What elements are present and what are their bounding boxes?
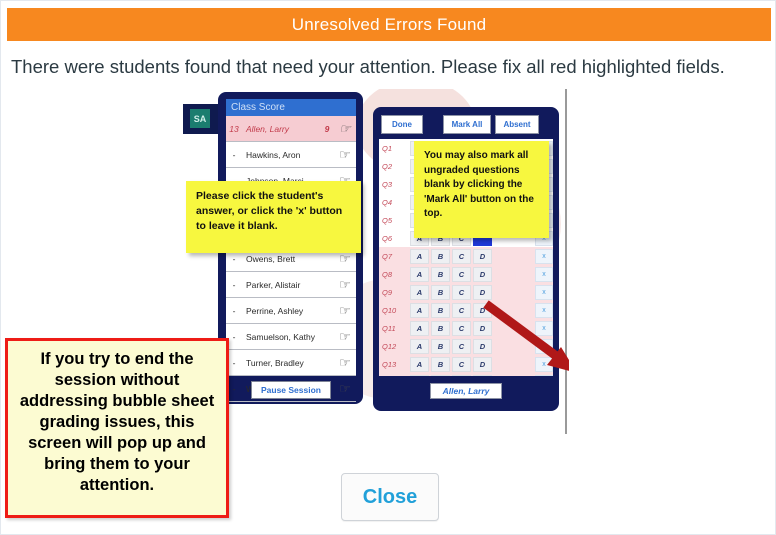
dialog-message: There were students found that need your… <box>11 56 771 78</box>
question-label: Q1 <box>379 144 406 153</box>
red-arrow-left <box>481 299 569 379</box>
answer-options: ABCD <box>406 267 527 282</box>
answer-option-c[interactable]: C <box>452 303 471 318</box>
answer-option-c[interactable]: C <box>452 375 471 377</box>
student-row[interactable]: -Perrine, Ashley☞ <box>226 298 356 324</box>
mark-blank-button[interactable]: x <box>535 267 553 282</box>
question-label: Q10 <box>379 306 406 315</box>
question-row[interactable]: Q8ABCDx <box>379 265 553 283</box>
pointing-hand-icon[interactable]: ☞ <box>334 304 356 317</box>
answer-option-a[interactable]: A <box>410 285 429 300</box>
app-logo-icon: SA <box>190 109 210 128</box>
student-name: Owens, Brett <box>242 254 320 264</box>
question-label: Q11 <box>379 324 406 333</box>
answer-option-b[interactable]: B <box>431 339 450 354</box>
done-button[interactable]: Done <box>381 115 423 134</box>
student-name: Hawkins, Aron <box>242 150 320 160</box>
question-label: Q8 <box>379 270 406 279</box>
pause-session-wrap: Pause Session <box>226 379 356 401</box>
answer-option-c[interactable]: C <box>452 339 471 354</box>
question-label: Q7 <box>379 252 406 261</box>
dialog-title-bar: Unresolved Errors Found <box>7 8 771 41</box>
screenshot-divider <box>565 89 567 434</box>
answer-option-a[interactable]: A <box>410 267 429 282</box>
student-row[interactable]: -Parker, Alistair☞ <box>226 272 356 298</box>
question-label: Q13 <box>379 360 406 369</box>
answer-option-b[interactable]: B <box>431 249 450 264</box>
student-attempts: - <box>226 306 242 316</box>
answer-option-d[interactable]: D <box>473 285 492 300</box>
student-row[interactable]: -Samuelson, Kathy☞ <box>226 324 356 350</box>
student-attempts: 13 <box>226 124 242 134</box>
student-row[interactable]: -Hawkins, Aron☞ <box>226 142 356 168</box>
answer-option-c[interactable]: C <box>452 249 471 264</box>
footer-name-wrap: Allen, Larry <box>379 381 553 401</box>
close-button[interactable]: Close <box>341 473 439 521</box>
answer-options: ABCD <box>406 285 527 300</box>
pointing-hand-icon[interactable]: ☞ <box>334 278 356 291</box>
question-row[interactable]: Q7ABCDx <box>379 247 553 265</box>
student-name: Samuelson, Kathy <box>242 332 320 342</box>
pause-session-button[interactable]: Pause Session <box>251 381 331 399</box>
answer-option-a[interactable]: A <box>410 375 429 377</box>
mark-all-button[interactable]: Mark All <box>443 115 491 134</box>
answer-option-c[interactable]: C <box>452 267 471 282</box>
answer-option-a[interactable]: A <box>410 303 429 318</box>
question-label: Q12 <box>379 342 406 351</box>
mark-blank-button[interactable]: x <box>535 249 553 264</box>
student-score: 9 <box>320 124 334 134</box>
note-mark-all: You may also mark all ungraded questions… <box>414 141 549 238</box>
answer-option-d[interactable]: D <box>473 249 492 264</box>
student-attempts: - <box>226 150 242 160</box>
pointing-hand-icon[interactable]: ☞ <box>334 252 356 265</box>
question-label: Q9 <box>379 288 406 297</box>
student-attempts: - <box>226 254 242 264</box>
pointing-hand-icon[interactable]: ☞ <box>334 330 356 343</box>
answer-option-a[interactable]: A <box>410 321 429 336</box>
student-row[interactable]: -Turner, Bradley☞ <box>226 350 356 376</box>
pointing-hand-icon[interactable]: ☞ <box>334 356 356 369</box>
question-label: Q3 <box>379 180 406 189</box>
class-score-header: Class Score <box>226 99 356 116</box>
unresolved-errors-dialog: Unresolved Errors Found There were stude… <box>0 0 776 535</box>
mark-blank-button[interactable]: x <box>535 285 553 300</box>
answer-option-c[interactable]: C <box>452 357 471 372</box>
student-row[interactable]: 13Allen, Larry9☞ <box>226 116 356 142</box>
pointing-hand-icon[interactable]: ☞ <box>334 122 356 135</box>
answer-option-a[interactable]: A <box>410 357 429 372</box>
answer-option-d[interactable]: D <box>473 267 492 282</box>
answer-option-c[interactable]: C <box>452 321 471 336</box>
page-title: Unresolved Errors Found <box>292 15 487 35</box>
student-attempts: - <box>226 280 242 290</box>
answer-option-c[interactable]: C <box>452 285 471 300</box>
answer-option-b[interactable]: B <box>431 375 450 377</box>
absent-button[interactable]: Absent <box>495 115 539 134</box>
answer-option-b[interactable]: B <box>431 285 450 300</box>
student-name: Turner, Bradley <box>242 358 320 368</box>
question-label: Q4 <box>379 198 406 207</box>
question-label: Q5 <box>379 216 406 225</box>
answer-option-b[interactable]: B <box>431 357 450 372</box>
note-click-answer: Please click the student's answer, or cl… <box>186 181 361 253</box>
current-student-button[interactable]: Allen, Larry <box>430 383 503 399</box>
question-label: Q2 <box>379 162 406 171</box>
question-label: Q6 <box>379 234 406 243</box>
student-name: Allen, Larry <box>242 124 320 134</box>
pointing-hand-icon[interactable]: ☞ <box>334 148 356 161</box>
student-name: Perrine, Ashley <box>242 306 320 316</box>
callout-end-session: If you try to end the session without ad… <box>5 338 229 518</box>
answer-options: ABCD <box>406 249 527 264</box>
answer-option-a[interactable]: A <box>410 339 429 354</box>
answer-option-a[interactable]: A <box>410 249 429 264</box>
answer-option-b[interactable]: B <box>431 267 450 282</box>
answer-option-b[interactable]: B <box>431 303 450 318</box>
answer-option-b[interactable]: B <box>431 321 450 336</box>
student-name: Parker, Alistair <box>242 280 320 290</box>
